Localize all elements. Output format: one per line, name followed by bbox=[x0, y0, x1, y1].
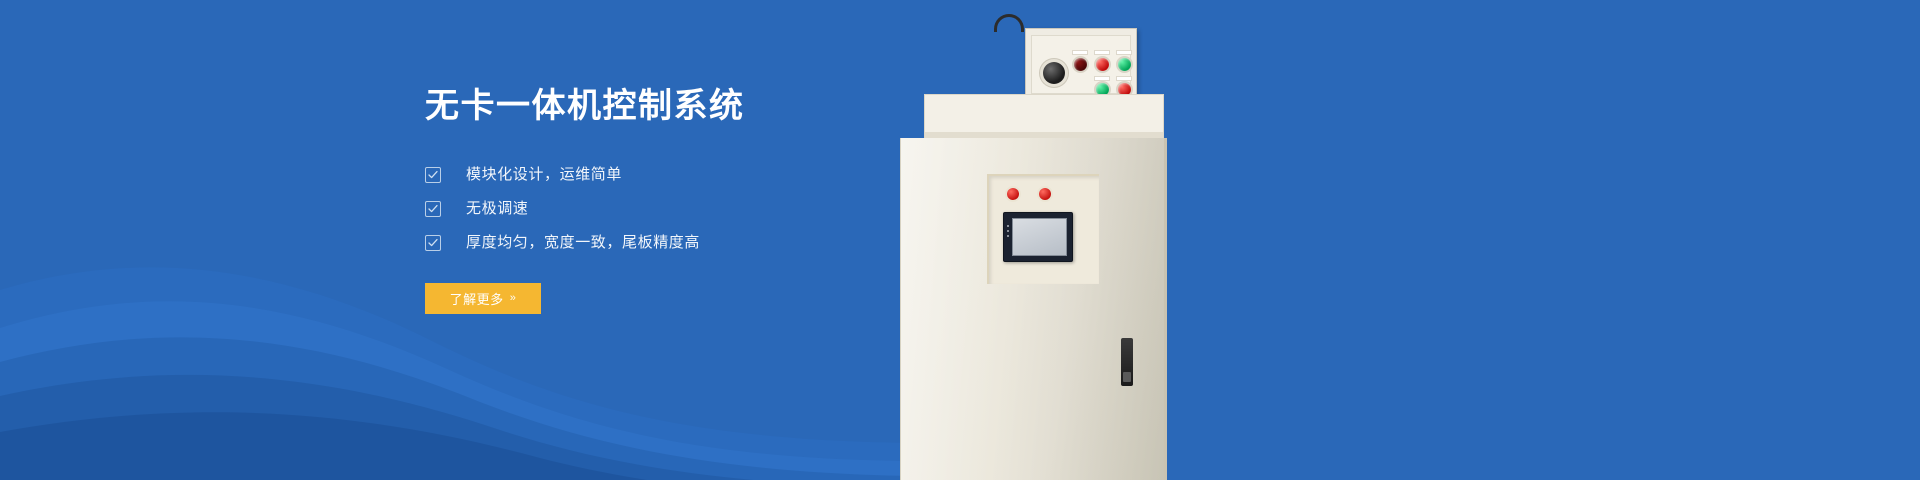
list-item: 模块化设计，运维简单 bbox=[425, 166, 985, 184]
button-label-4 bbox=[1094, 76, 1110, 81]
power-cable-icon bbox=[994, 14, 1024, 32]
control-button-1[interactable] bbox=[1074, 58, 1087, 71]
hero-banner: 无卡一体机控制系统 模块化设计，运维简单 无极调速 bbox=[0, 0, 1920, 480]
feature-label: 厚度均匀，宽度一致，尾板精度高 bbox=[466, 235, 700, 250]
list-item: 厚度均匀，宽度一致，尾板精度高 bbox=[425, 234, 985, 252]
page-title: 无卡一体机控制系统 bbox=[425, 86, 985, 127]
control-box-face bbox=[1031, 35, 1131, 94]
button-label-1 bbox=[1072, 50, 1088, 55]
feature-label: 模块化设计，运维简单 bbox=[466, 167, 622, 182]
control-button-3[interactable] bbox=[1118, 58, 1131, 71]
check-square-icon bbox=[425, 167, 441, 183]
button-label-2 bbox=[1094, 50, 1110, 55]
button-label-5 bbox=[1116, 76, 1132, 81]
list-item: 无极调速 bbox=[425, 200, 985, 218]
button-label-3 bbox=[1116, 50, 1132, 55]
hmi-touchscreen[interactable] bbox=[1003, 212, 1073, 262]
upper-control-box bbox=[1025, 28, 1137, 100]
hmi-recess-panel bbox=[987, 174, 1099, 284]
feature-list: 模块化设计，运维简单 无极调速 厚度均匀，宽度一致，尾板精度高 bbox=[425, 166, 985, 252]
feature-label: 无极调速 bbox=[466, 201, 528, 216]
handle-grip bbox=[1123, 372, 1131, 382]
learn-more-button[interactable]: 了解更多 » bbox=[425, 283, 541, 314]
indicator-lamp-2[interactable] bbox=[1039, 188, 1051, 200]
hmi-screen-surface[interactable] bbox=[1012, 218, 1067, 256]
hero-content: 无卡一体机控制系统 模块化设计，运维简单 无极调速 bbox=[425, 86, 985, 314]
control-button-2[interactable] bbox=[1096, 58, 1109, 71]
cabinet-door-seam bbox=[1164, 138, 1167, 480]
check-square-icon bbox=[425, 201, 441, 217]
check-square-icon bbox=[425, 235, 441, 251]
cabinet-door-handle[interactable] bbox=[1121, 338, 1133, 386]
selector-knob[interactable] bbox=[1043, 62, 1065, 84]
indicator-lamp-1[interactable] bbox=[1007, 188, 1019, 200]
hmi-side-leds bbox=[1007, 225, 1009, 239]
chevron-right-icon: » bbox=[510, 292, 517, 304]
learn-more-label: 了解更多 bbox=[450, 289, 504, 308]
